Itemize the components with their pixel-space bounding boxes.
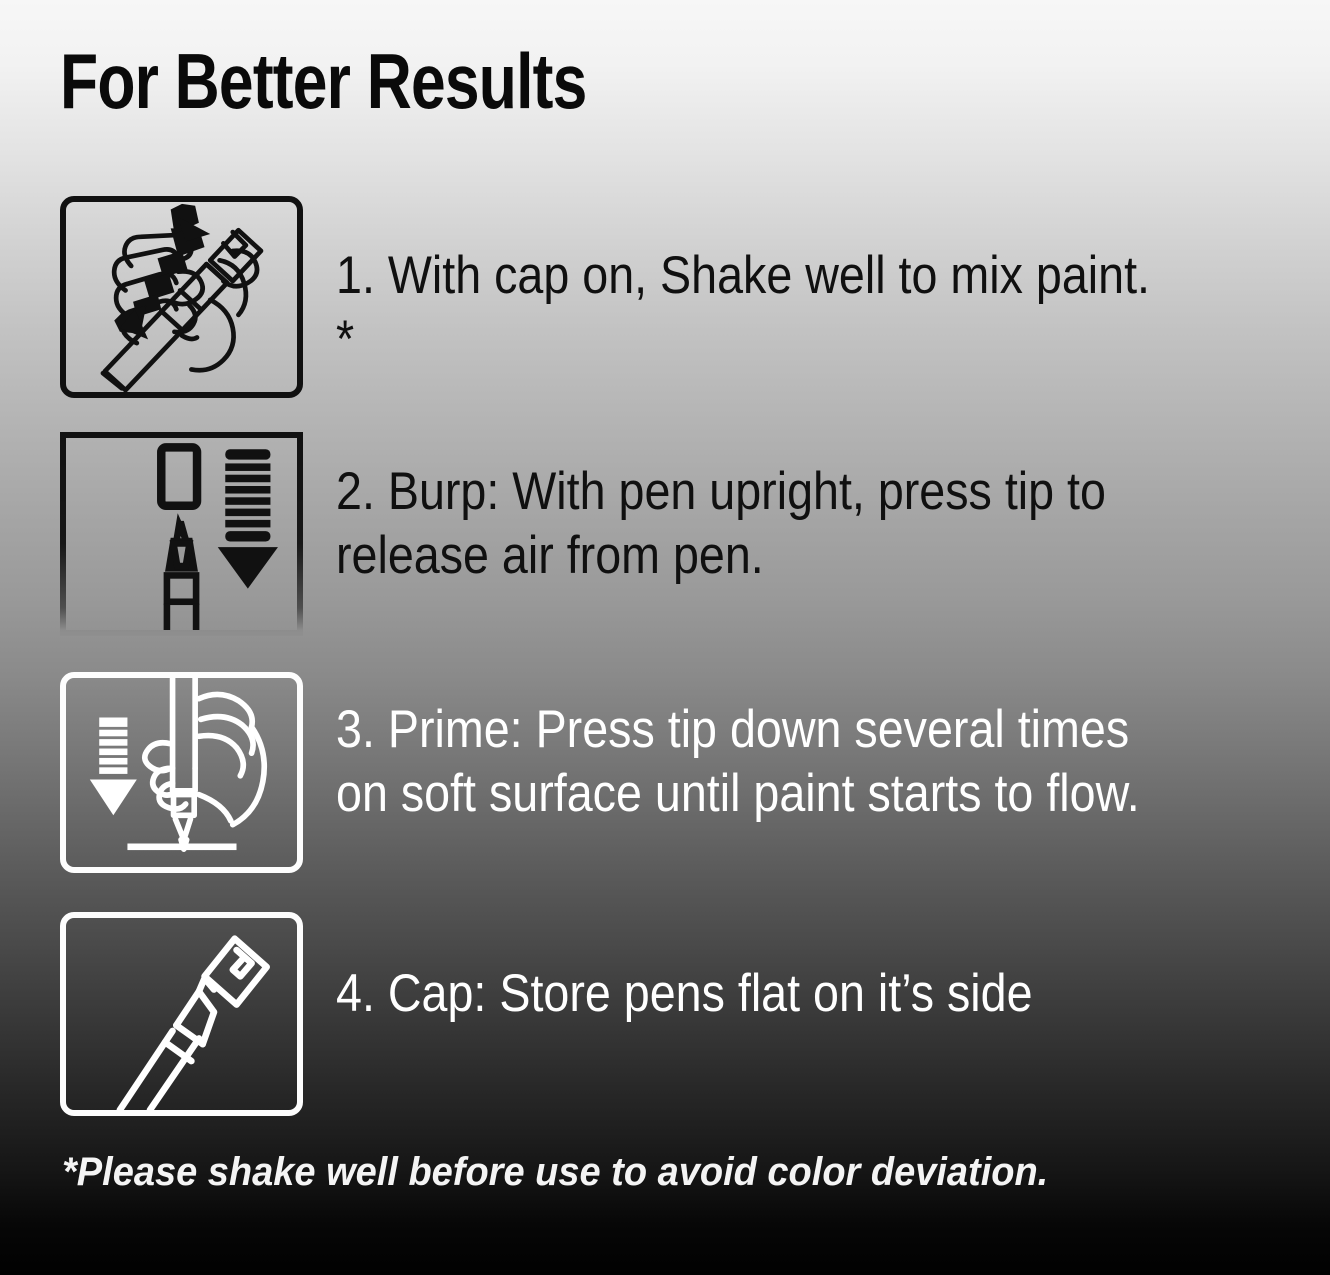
hand-shaking-capped-pen-icon xyxy=(66,202,297,392)
page-title: For Better Results xyxy=(60,38,587,124)
step-2-icon-box xyxy=(60,432,303,636)
step-3-text: 3. Prime: Press tip down several times o… xyxy=(336,698,1172,826)
step-4-text: 4. Cap: Store pens flat on it’s side xyxy=(336,962,1172,1026)
step-4-icon-box xyxy=(60,912,303,1116)
step-1-icon-box xyxy=(60,196,303,398)
footnote-text: *Please shake well before use to avoid c… xyxy=(62,1148,1048,1196)
step-row-3: 3. Prime: Press tip down several times o… xyxy=(60,672,1290,873)
step-2-text: 2. Burp: With pen upright, press tip to … xyxy=(336,460,1172,588)
hand-pressing-pen-tip-on-surface-icon xyxy=(66,678,297,867)
instruction-card: For Better Results xyxy=(0,0,1330,1275)
step-row-4: 4. Cap: Store pens flat on it’s side xyxy=(60,912,1290,1116)
step-row-1: 1. With cap on, Shake well to mix paint.… xyxy=(60,196,1290,398)
step-3-icon-box xyxy=(60,672,303,873)
step-row-2: 2. Burp: With pen upright, press tip to … xyxy=(60,432,1290,636)
pen-with-cap-diagonal-icon xyxy=(66,918,297,1110)
step-1-text: 1. With cap on, Shake well to mix paint.… xyxy=(336,244,1172,372)
upright-pen-with-cap-and-down-arrow-icon xyxy=(66,438,297,630)
